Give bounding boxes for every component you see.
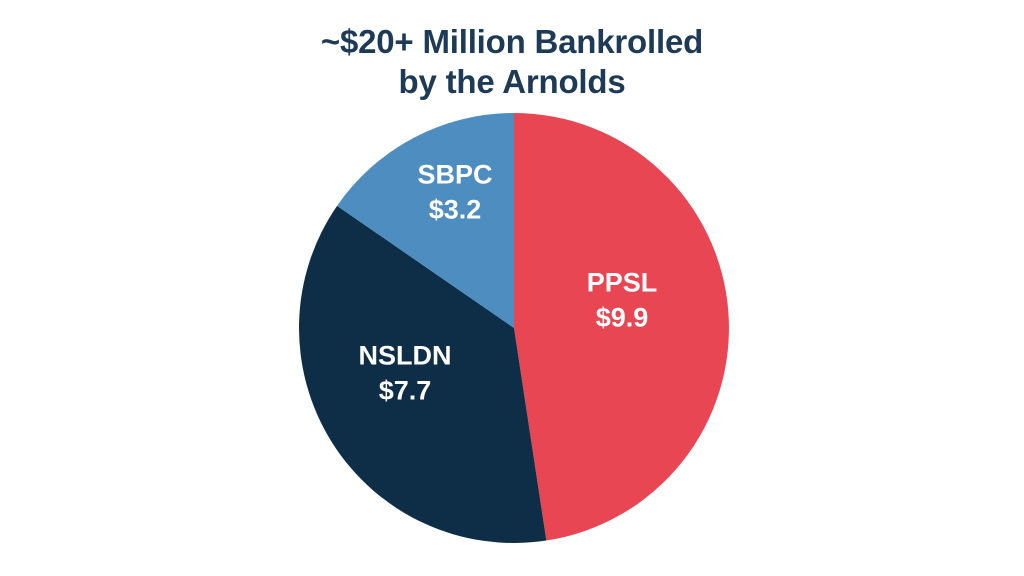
chart-title-line-1: ~$20+ Million Bankrolled	[0, 22, 1024, 62]
chart-title-line-2: by the Arnolds	[0, 62, 1024, 102]
chart-title: ~$20+ Million Bankrolled by the Arnolds	[0, 22, 1024, 103]
pie-chart-figure: ~$20+ Million Bankrolled by the Arnolds …	[0, 0, 1024, 576]
pie-slice-ppsl[interactable]	[514, 113, 729, 541]
pie-svg	[299, 113, 729, 543]
pie-plot-area	[299, 113, 729, 543]
